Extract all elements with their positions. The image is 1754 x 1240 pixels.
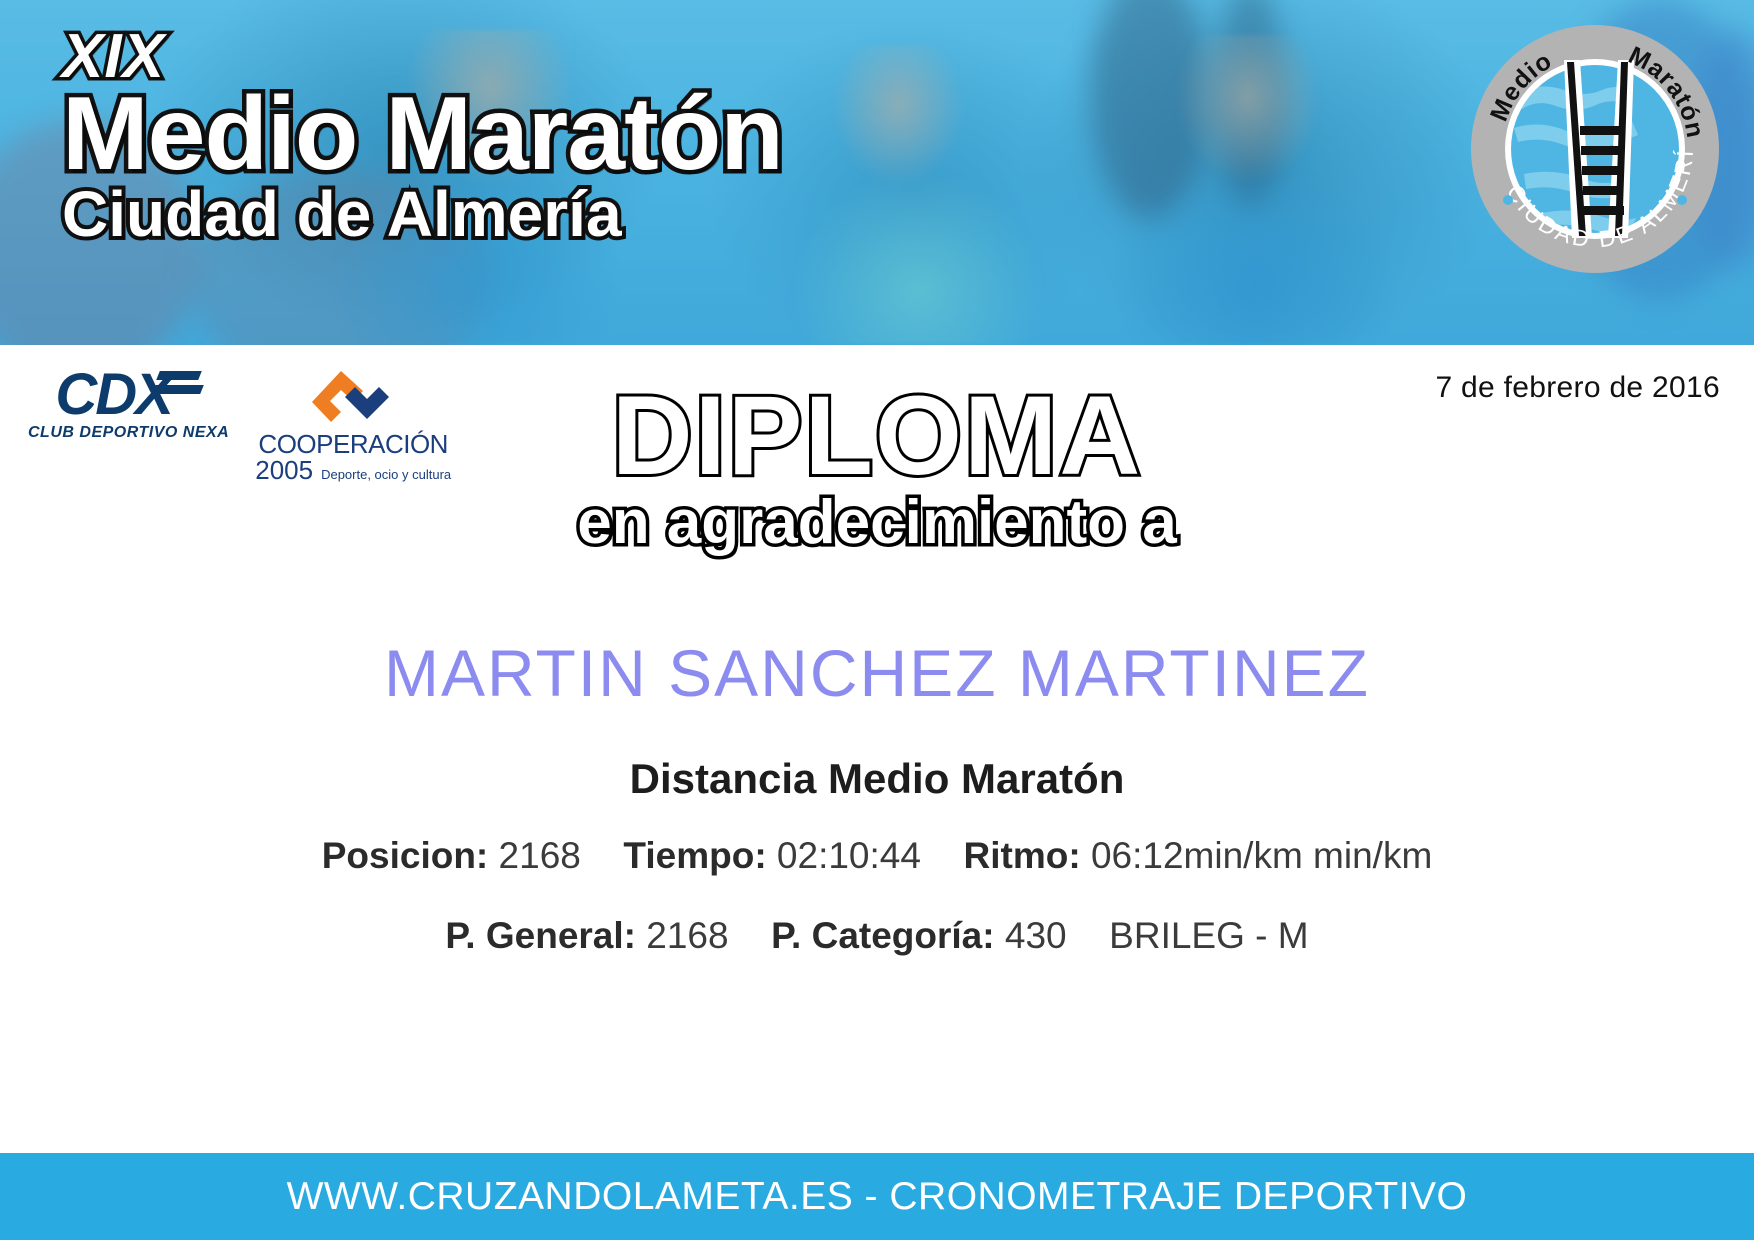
diploma-heading-block: DIPLOMA en agradecimiento a [0, 377, 1754, 557]
time-label: Tiempo: [623, 835, 766, 876]
general-position-value: 2168 [646, 915, 728, 956]
race-circular-logo: Medio Maratón CIUDAD DE ALMERÍA [1468, 22, 1722, 276]
pace-value: 06:12min/km min/km [1091, 835, 1432, 876]
general-position-label: P. General: [445, 915, 636, 956]
athlete-name: MARTIN SANCHEZ MARTINEZ [0, 635, 1754, 711]
results-row-primary: Posicion: 2168 Tiempo: 02:10:44 Ritmo: 0… [0, 835, 1754, 877]
diploma-subtitle: en agradecimiento a [0, 489, 1754, 557]
time-value: 02:10:44 [777, 835, 921, 876]
event-title-block: XIX Medio Maratón Ciudad de Almería [62, 26, 783, 246]
footer-bar: WWW.CRUZANDOLAMETA.ES - CRONOMETRAJE DEP… [0, 1153, 1754, 1240]
category-code: BRILEG - M [1109, 915, 1308, 956]
category-position-value: 430 [1005, 915, 1067, 956]
results-row-secondary: P. General: 2168 P. Categoría: 430 BRILE… [0, 915, 1754, 957]
category-position-label: P. Categoría: [771, 915, 994, 956]
position-value: 2168 [499, 835, 581, 876]
distance-label: Distancia Medio Maratón [0, 755, 1754, 803]
header-banner: XIX Medio Maratón Ciudad de Almería [0, 0, 1754, 345]
diploma-title: DIPLOMA [0, 377, 1754, 495]
diploma-body: CDX CLUB DEPORTIVO NEXA COOPERACIÓN 2005… [0, 345, 1754, 1135]
position-label: Posicion: [322, 835, 489, 876]
footer-website-text: WWW.CRUZANDOLAMETA.ES - CRONOMETRAJE DEP… [287, 1175, 1468, 1219]
diploma-page: XIX Medio Maratón Ciudad de Almería [0, 0, 1754, 1240]
pace-label: Ritmo: [964, 835, 1081, 876]
footer-spacer [0, 1135, 1754, 1153]
event-name: Medio Maratón [62, 82, 783, 186]
